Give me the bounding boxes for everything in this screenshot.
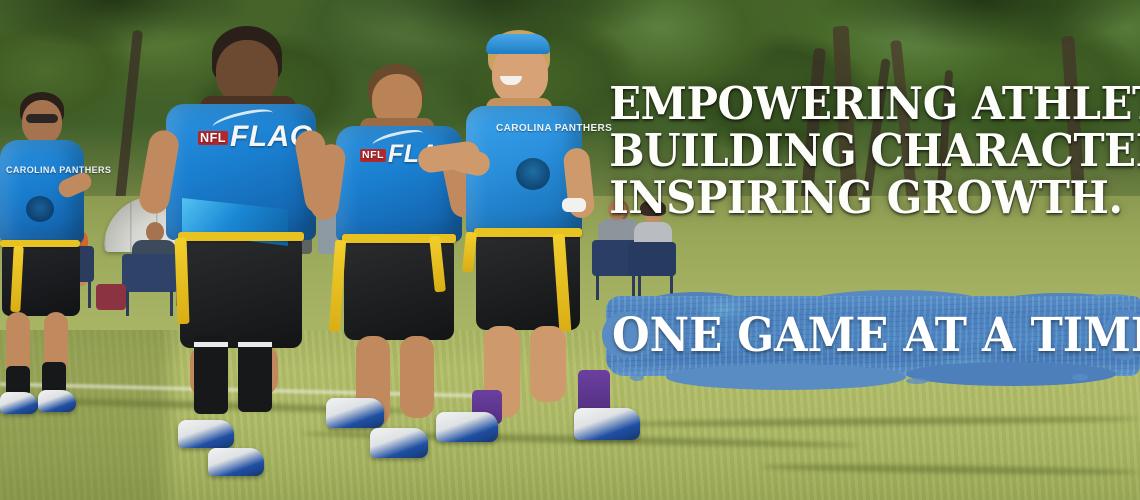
player-cleat [208,448,264,476]
player-cleat [38,390,76,412]
player-head [216,40,278,104]
equipment-bag [96,284,126,310]
hero-copy-overlay: EMPOWERING ATHLETES. BUILDING CHARACTER.… [590,0,1140,500]
player-sunglasses [26,114,58,123]
player-cleat [326,398,384,428]
jersey-team-text: CAROLINA PANTHERS [6,166,78,175]
folding-chair [122,254,178,292]
headline-line-2: BUILDING CHARACTER. [609,127,1121,174]
jersey-team-text: CAROLINA PANTHERS [496,124,560,135]
sock-stripe [194,342,228,347]
chair-leg [126,290,129,316]
player-sock [238,336,272,412]
player-cleat [370,428,428,458]
paint-speck [726,376,744,382]
flag-belt [474,228,582,237]
flag-belt [178,232,304,241]
nfl-badge: NFL [360,149,386,162]
player-headband [486,34,550,54]
paint-speck [1072,374,1088,381]
flag-belt [0,240,80,247]
headline-line-1: EMPOWERING ATHLETES. [609,80,1121,127]
paint-speck [630,374,644,381]
spectator-head [146,222,164,242]
paint-speck [1120,300,1132,308]
nfl-badge: NFL [198,131,228,146]
player-cleat [436,412,498,442]
player-shorts [180,238,302,348]
chair-leg [88,280,91,308]
player-leg [400,336,434,418]
hero-banner: CAROLINA PANTHERS NFLFLAG [0,0,1140,500]
brush-blob [666,364,906,390]
player-sock [194,336,228,414]
hero-tagline: ONE GAME AT A TIME [612,310,1118,362]
panthers-logo [516,158,550,190]
chair-leg [170,290,173,316]
panthers-logo [26,196,54,222]
paint-speck [906,378,928,384]
hero-headline: EMPOWERING ATHLETES. BUILDING CHARACTER.… [609,80,1121,221]
player-cleat [0,392,38,414]
player-cleat [178,420,234,448]
sock-stripe [238,342,272,347]
headline-line-3: INSPIRING GROWTH. [609,174,1121,221]
player-wristband [562,198,586,212]
player-leg [530,326,566,402]
paint-speck [614,362,624,370]
